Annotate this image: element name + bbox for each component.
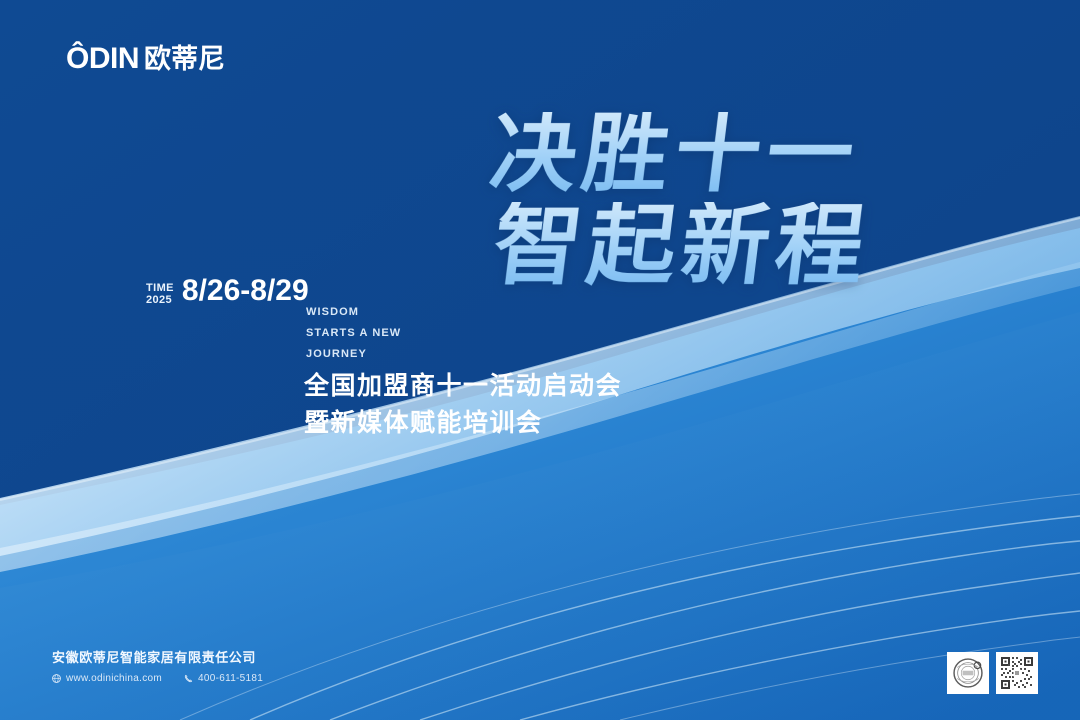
tagline-line-2: STARTS A NEW xyxy=(306,323,401,344)
headline: 决胜十一 智起新程 xyxy=(440,112,910,289)
subtitle-line-2: 暨新媒体赋能培训会 xyxy=(304,405,622,442)
time-label-year: 2025 xyxy=(146,294,174,306)
event-date-range: 8/26-8/29 xyxy=(182,276,309,306)
footer-phone-text: 400-611-5181 xyxy=(198,673,263,684)
qr-code-badge[interactable] xyxy=(996,652,1038,694)
circular-seal-icon xyxy=(950,655,986,691)
time-label-word: TIME xyxy=(146,282,174,294)
tagline-line-1: WISDOM xyxy=(306,302,401,323)
footer-website[interactable]: www.odinichina.com xyxy=(52,673,162,684)
event-subtitle: 全国加盟商十一活动启动会 暨新媒体赋能培训会 xyxy=(304,368,622,442)
english-tagline: WISDOM STARTS A NEW JOURNEY xyxy=(306,302,401,365)
footer-phone[interactable]: 400-611-5181 xyxy=(184,673,263,684)
footer-contact-row: www.odinichina.com 400-611-5181 xyxy=(52,673,263,684)
headline-line-2: 智起新程 xyxy=(449,202,916,288)
poster-canvas: ÔDIN 欧蒂尼 决胜十一 智起新程 TIME 2025 8/26-8/29 W… xyxy=(0,0,1080,720)
badge-group xyxy=(947,652,1038,694)
globe-icon xyxy=(52,674,61,683)
subtitle-line-1: 全国加盟商十一活动启动会 xyxy=(304,368,622,405)
brand-logo: ÔDIN 欧蒂尼 xyxy=(66,44,225,74)
brand-logo-chinese: 欧蒂尼 xyxy=(144,46,225,73)
headline-line-1: 决胜十一 xyxy=(435,112,915,196)
qr-code-icon xyxy=(999,655,1035,691)
phone-icon xyxy=(184,674,193,683)
brand-logo-mark: ÔDIN xyxy=(66,44,139,74)
event-time-label: TIME 2025 xyxy=(146,276,174,307)
event-date-block: TIME 2025 8/26-8/29 xyxy=(146,276,309,307)
footer-company-name: 安徽欧蒂尼智能家居有限责任公司 xyxy=(52,647,263,666)
footer: 安徽欧蒂尼智能家居有限责任公司 www.odinichina.com 400-6… xyxy=(52,647,263,684)
tagline-line-3: JOURNEY xyxy=(306,344,401,365)
company-seal-badge[interactable] xyxy=(947,652,989,694)
footer-website-text: www.odinichina.com xyxy=(66,673,162,684)
